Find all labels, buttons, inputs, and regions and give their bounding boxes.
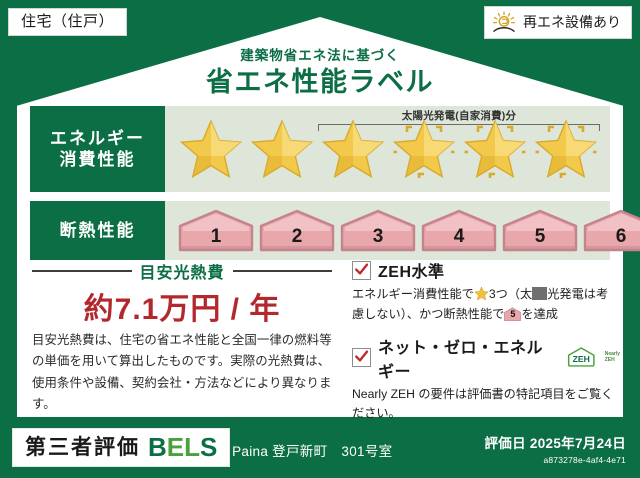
bels-logo: BELS — [148, 434, 217, 460]
insulation-grade-active: 2 — [258, 209, 336, 253]
zeh-desc-part-d: を達成 — [521, 307, 558, 321]
insulation-grade-number: 1 — [177, 226, 255, 248]
energy-label-line1: エネルギー — [50, 128, 145, 149]
energy-label-root: 住宅（住戸） 再エネ設備あり 建築物省エネ法に基づく 省エ — [0, 0, 640, 478]
building-name: D Paina 登戸新町 — [218, 444, 327, 459]
zeh-standard-checkbox — [352, 261, 371, 280]
net-zero-energy-title: ネット・ゼロ・エネルギー — [378, 334, 556, 382]
insulation-performance-label: 断熱性能 — [30, 201, 165, 260]
insulation-grade-number: 3 — [339, 226, 417, 248]
star-solid — [322, 118, 384, 180]
insulation-performance-body: 1 2 3 4 5 6 7 — [165, 201, 610, 260]
zeh-standard-row: ZEH水準 — [352, 258, 620, 282]
bels-logo-s: S — [200, 432, 217, 462]
insulation-grade-active: 3 — [339, 209, 417, 253]
dwelling-type-chip: 住宅（住戸） — [8, 8, 127, 36]
star-solid — [180, 118, 242, 180]
renewable-equipment-chip: 再エネ設備あり — [484, 6, 632, 39]
cost-heading-text: 目安光熱費 — [140, 259, 225, 283]
inline-grade-number: 5 — [504, 310, 521, 319]
star-solid — [251, 118, 313, 180]
bels-certification-chip: 第三者評価 BELS — [12, 428, 230, 467]
evaluation-date: 評価日 2025年7月24日 — [484, 432, 626, 452]
insulation-performance-row: 断熱性能 1 2 3 4 5 — [30, 201, 610, 260]
zeh-standard-title: ZEH水準 — [378, 258, 445, 282]
cost-rule-right — [233, 270, 333, 272]
estimated-cost-note: 目安光熱費は、住宅の省エネ性能と全国一律の燃料等の単価を用いて算出したものです。… — [32, 330, 332, 415]
dwelling-type-label: 住宅（住戸） — [21, 13, 114, 30]
sun-icon — [491, 11, 517, 33]
energy-performance-body: 太陽光発電(自家消費)分 — [165, 106, 610, 192]
insulation-grade-number: 5 — [501, 226, 579, 248]
energy-star-rating — [175, 106, 602, 192]
insulation-grade-active: 5 — [501, 209, 579, 253]
insulation-grade-number: 2 — [258, 226, 336, 248]
energy-label-line2: 消費性能 — [60, 149, 136, 170]
label-footer: 第三者評価 BELS D Paina 登戸新町301号室 評価日 2025年7月… — [0, 420, 640, 478]
evaluation-id: a873278e-4af4-4e71 — [484, 455, 626, 465]
energy-performance-label: エネルギー 消費性能 — [30, 106, 165, 192]
cost-rule-left — [32, 270, 132, 272]
zeh-logo-icon: ZEH — [566, 346, 597, 370]
bels-logo-b: B — [148, 432, 167, 462]
inline-grade-badge: 5 — [504, 307, 521, 321]
insulation-grade-active: 6 — [582, 209, 640, 253]
redacted-text-block — [532, 287, 547, 300]
zeh-desc-part-b: 3つ（太 — [489, 287, 532, 301]
energy-performance-row: エネルギー 消費性能 太陽光発電(自家消費)分 — [30, 106, 610, 192]
insulation-label-text: 断熱性能 — [60, 220, 136, 241]
insulation-grade-active: 1 — [177, 209, 255, 253]
zeh-criteria-block: ZEH水準 エネルギー消費性能で3つ（太光発電は考慮しない）、かつ断熱性能で5を… — [352, 258, 620, 424]
insulation-grade-number: 4 — [420, 226, 498, 248]
room-number: 301号室 — [341, 444, 392, 459]
inline-star-icon — [474, 286, 489, 301]
zeh-logo-sub-line2: ZEH — [605, 357, 615, 363]
estimated-cost-heading: 目安光熱費 — [32, 260, 332, 282]
insulation-grade-active: 4 — [420, 209, 498, 253]
svg-text:ZEH: ZEH — [573, 353, 590, 363]
insulation-grade-number: 6 — [582, 226, 640, 248]
star-dashed — [393, 118, 455, 180]
star-dashed — [535, 118, 597, 180]
star-dashed — [464, 118, 526, 180]
net-zero-energy-description: Nearly ZEH の要件は評価書の特記項目をご覧ください。 — [352, 385, 620, 425]
bels-logo-el: EL — [167, 432, 200, 462]
insulation-grade-scale: 1 2 3 4 5 6 7 — [177, 201, 600, 260]
renewable-equipment-label: 再エネ設備あり — [523, 15, 621, 29]
net-zero-energy-row: ネット・ゼロ・エネルギー ZEH Nearly ZEH — [352, 334, 620, 382]
zeh-desc-part-a: エネルギー消費性能で — [352, 287, 474, 301]
net-zero-energy-checkbox — [352, 348, 371, 367]
evaluation-info: 評価日 2025年7月24日 a873278e-4af4-4e71 — [484, 432, 626, 465]
zeh-standard-description: エネルギー消費性能で3つ（太光発電は考慮しない）、かつ断熱性能で5を達成 — [352, 285, 620, 325]
zeh-logo-subtext: Nearly ZEH — [605, 352, 620, 363]
estimated-cost-value: 約7.1万円 / 年 — [32, 284, 332, 328]
third-party-eval-label: 第三者評価 — [25, 437, 140, 458]
building-address: D Paina 登戸新町301号室 — [218, 440, 392, 460]
label-title: 省エネ性能ラベル — [0, 60, 640, 99]
